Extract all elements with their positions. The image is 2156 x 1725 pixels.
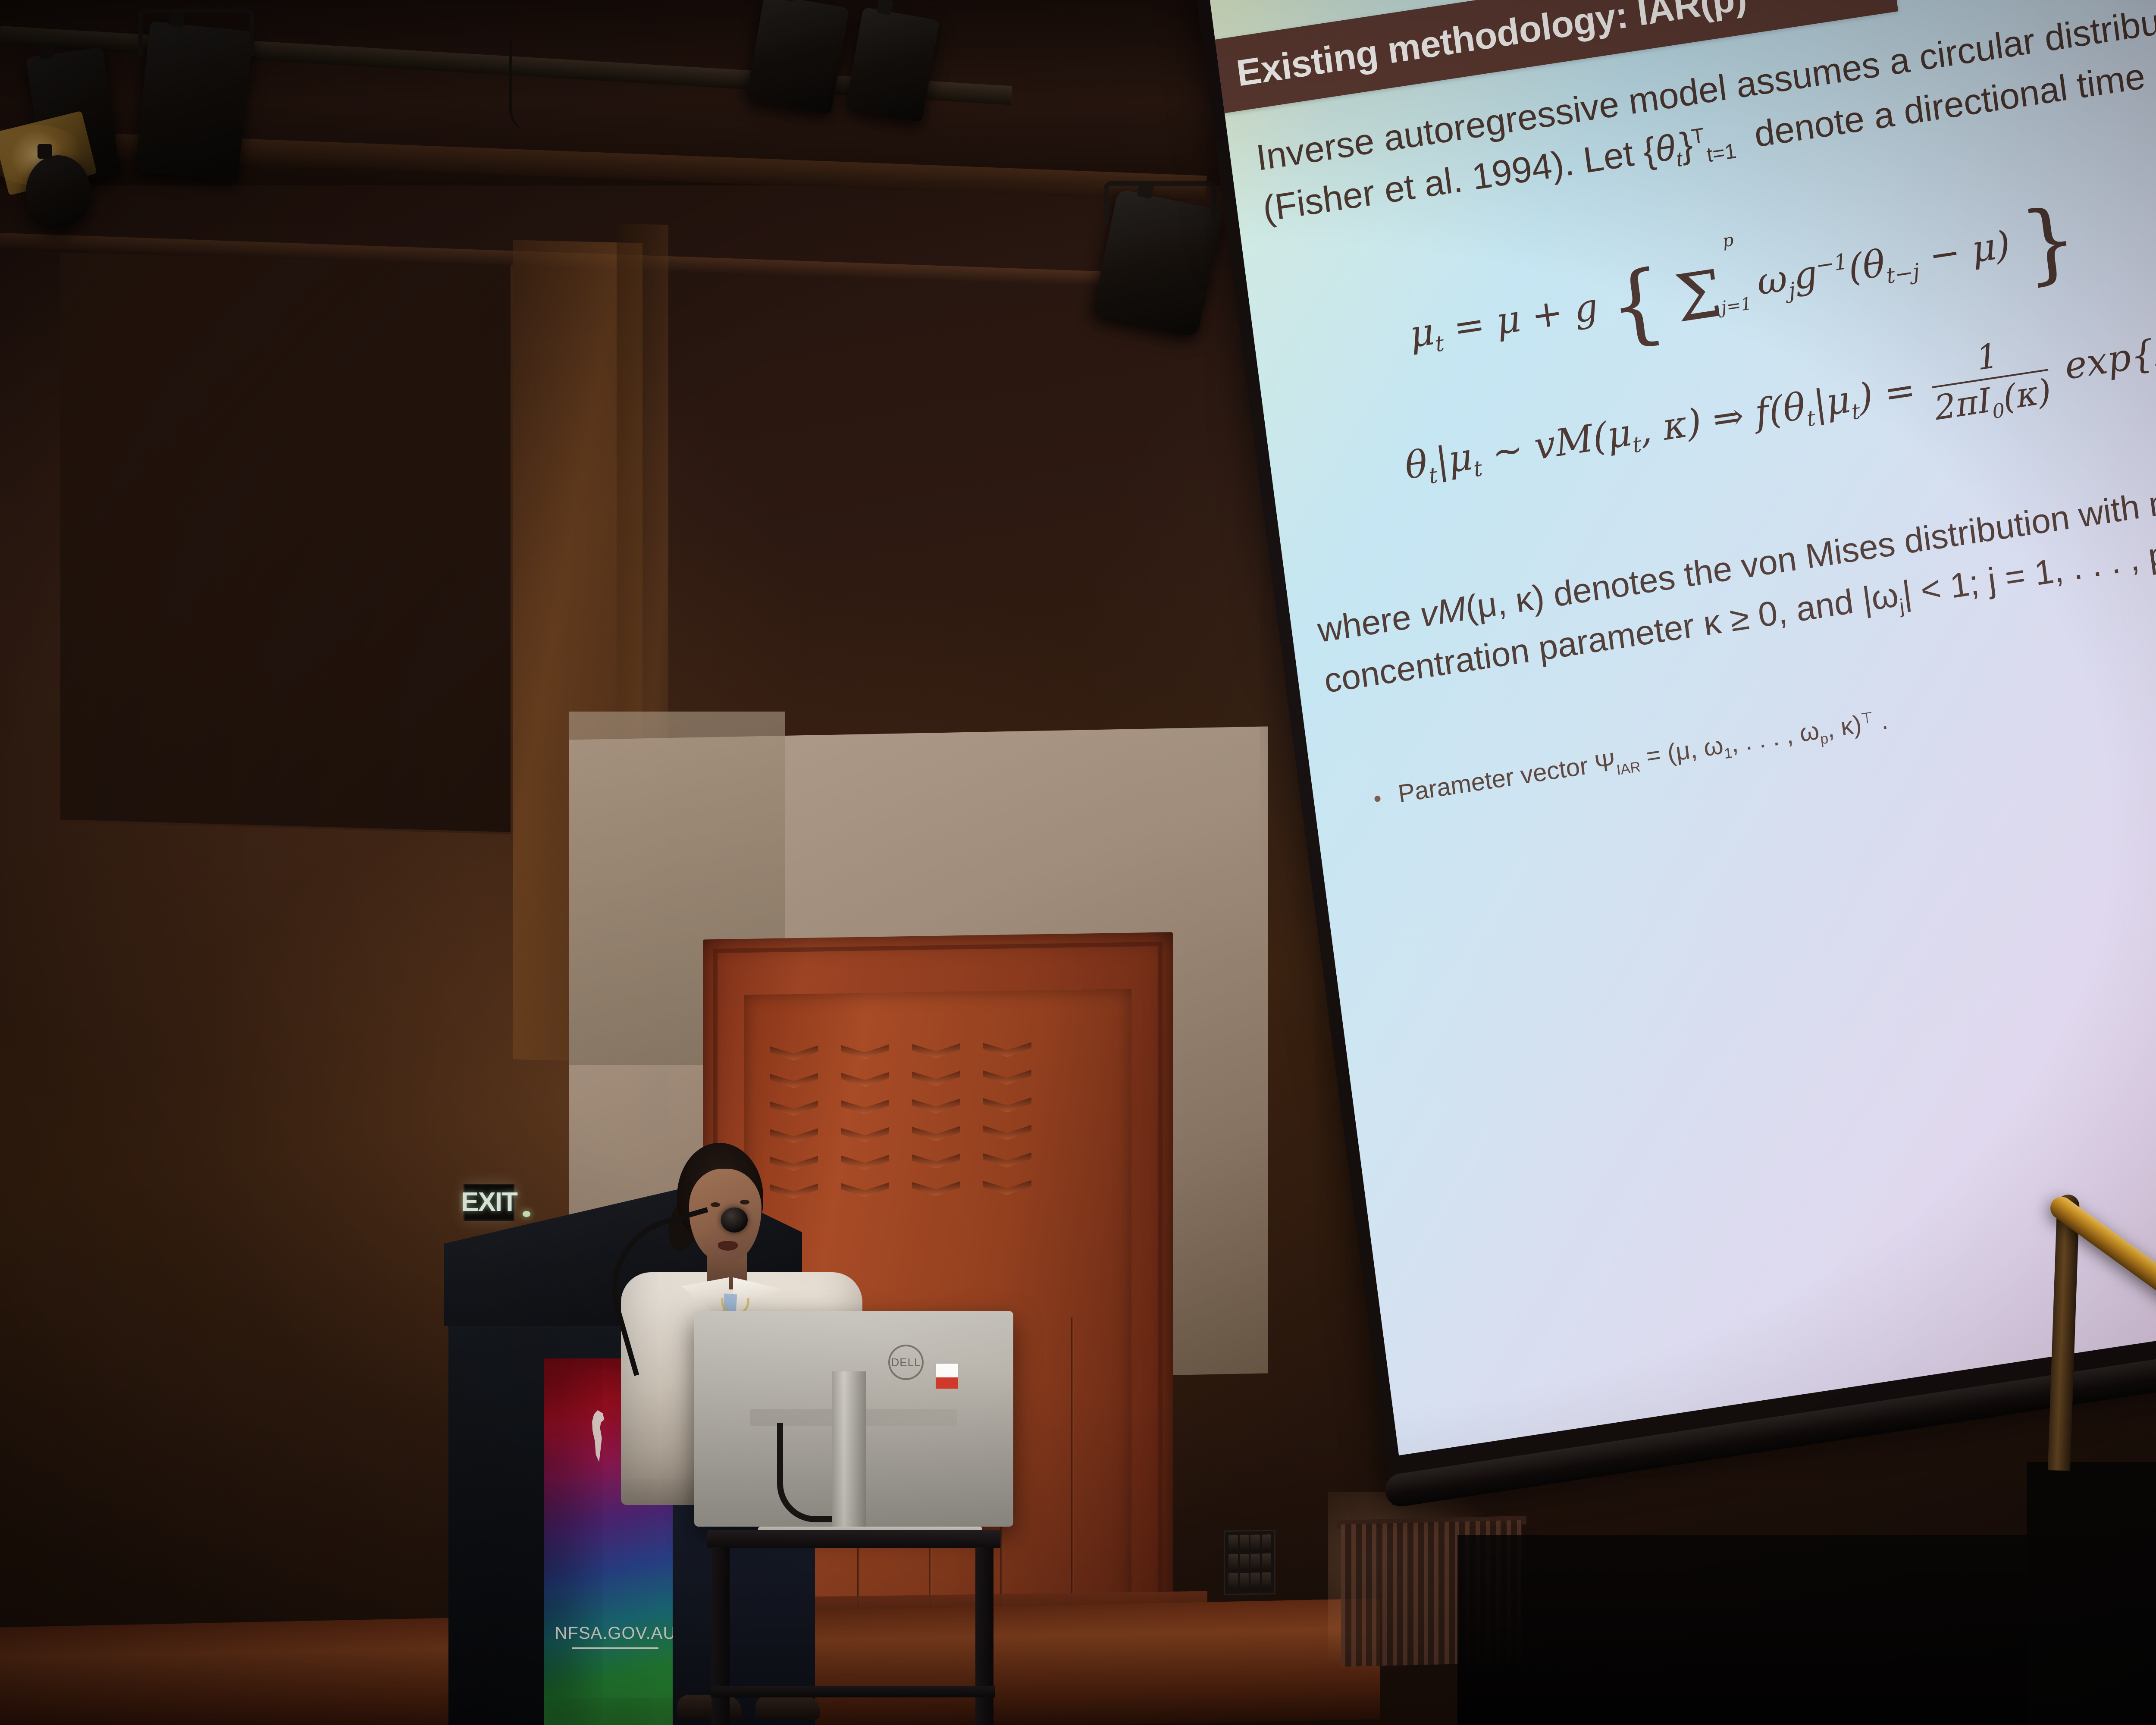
slide-body: Inverse autoregressive model assumes a c… (1253, 0, 2156, 1452)
wall-control-panel[interactable] (1224, 1530, 1275, 1595)
door-chevron (983, 1153, 1031, 1168)
door-chevron (983, 1180, 1031, 1196)
control-button[interactable] (1262, 1553, 1271, 1571)
control-button[interactable] (1240, 1554, 1249, 1571)
door-chevron (912, 1098, 960, 1114)
door-chevron (983, 1070, 1031, 1085)
swan-logo (586, 1410, 609, 1462)
speaker-shoe-right (755, 1695, 820, 1719)
nfsa-banner-underline (572, 1647, 658, 1649)
door-chevron (983, 1125, 1031, 1141)
wall-panel-upper-left (60, 252, 513, 834)
speaker-shoe-left (677, 1695, 742, 1719)
door-chevron (983, 1098, 1031, 1113)
summation-limits: pj=1 (1712, 230, 1753, 317)
control-button[interactable] (1262, 1534, 1271, 1552)
door-chevron (841, 1155, 889, 1170)
door-chevron-column-3 (904, 1043, 968, 1311)
door-chevron (770, 1156, 818, 1171)
control-button[interactable] (1240, 1573, 1249, 1590)
door-chevron (770, 1183, 818, 1199)
side-table-leg-left (711, 1547, 730, 1725)
door-chevron (770, 1101, 818, 1116)
exit-sign-label: EXIT (461, 1189, 517, 1216)
control-button[interactable] (1262, 1572, 1271, 1590)
control-button[interactable] (1228, 1554, 1238, 1571)
door-chevron (841, 1100, 889, 1115)
monitor-energy-label-sticker (935, 1363, 959, 1389)
door-chevron (912, 1154, 960, 1169)
emergency-light-dot (523, 1211, 530, 1217)
nfsa-banner-url: NFSA.GOV.AU (555, 1624, 676, 1643)
control-button[interactable] (1250, 1535, 1260, 1552)
monitor-stand-neck (832, 1371, 866, 1540)
stage-spotlight-3 (26, 155, 91, 229)
foreground-stair-mass (2027, 1462, 2156, 1725)
control-button[interactable] (1250, 1554, 1260, 1571)
brace-close: } (2015, 188, 2083, 296)
door-chevron (841, 1044, 889, 1060)
door-chevron (770, 1073, 818, 1088)
spotlight-yoke-1 (138, 9, 254, 56)
door-chevron (770, 1128, 818, 1144)
speaker-mouth (718, 1241, 738, 1251)
spotlight-yoke-6 (1104, 181, 1216, 224)
bullet-dot-icon (1374, 795, 1381, 802)
control-button[interactable] (1228, 1535, 1238, 1552)
door-chevron-column-4 (975, 1042, 1040, 1310)
exit-sign: EXIT (464, 1184, 514, 1221)
door-chevron (841, 1182, 889, 1198)
fraction: 1 2πI0(κ) (1927, 331, 2054, 430)
door-rib (1071, 1317, 1074, 1632)
speaker-eye-left (711, 1202, 720, 1207)
side-table-shelf (711, 1686, 995, 1697)
side-table-top (707, 1530, 1000, 1548)
dell-logo-icon: DELL (888, 1345, 924, 1380)
control-button[interactable] (1228, 1573, 1238, 1590)
door-chevron (912, 1181, 960, 1197)
brace-open: { (1603, 250, 1670, 358)
door-chevron (841, 1127, 889, 1143)
door-chevron (983, 1042, 1031, 1058)
auditorium-scene: EXIT (0, 0, 2156, 1725)
door-chevron (912, 1126, 960, 1142)
control-button[interactable] (1250, 1573, 1260, 1590)
side-table-leg-right (975, 1547, 993, 1725)
door-chevron (770, 1045, 818, 1061)
door-chevron-column-2 (833, 1044, 897, 1312)
microphone-head (721, 1207, 748, 1233)
lighting-cable (509, 39, 595, 134)
speaker-eye-right (740, 1200, 749, 1204)
door-chevron (841, 1072, 889, 1088)
door-chevron (912, 1071, 960, 1086)
control-button[interactable] (1240, 1535, 1249, 1552)
door-chevron (912, 1043, 960, 1059)
